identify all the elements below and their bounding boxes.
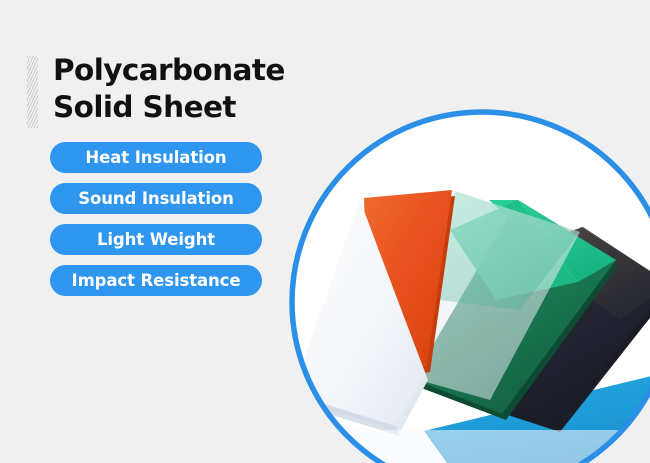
title-line-1: Polycarbonate	[53, 52, 303, 89]
feature-pill-impact-resistance[interactable]: Impact Resistance	[50, 265, 262, 296]
feature-pill-label: Sound Insulation	[78, 189, 234, 208]
feature-pill-label: Heat Insulation	[85, 148, 226, 167]
feature-pill-light-weight[interactable]: Light Weight	[50, 224, 262, 255]
product-banner: Polycarbonate Solid Sheet Heat Insulatio…	[0, 0, 650, 463]
text-column: Polycarbonate Solid Sheet Heat Insulatio…	[0, 0, 300, 463]
feature-pill-list: Heat Insulation Sound Insulation Light W…	[50, 142, 262, 306]
feature-pill-label: Impact Resistance	[72, 271, 241, 290]
feature-pill-sound-insulation[interactable]: Sound Insulation	[50, 183, 262, 214]
feature-pill-label: Light Weight	[97, 230, 215, 249]
hatched-accent-bar	[27, 56, 38, 128]
title-line-2: Solid Sheet	[53, 89, 303, 126]
page-title: Polycarbonate Solid Sheet	[53, 52, 303, 126]
feature-pill-heat-insulation[interactable]: Heat Insulation	[50, 142, 262, 173]
